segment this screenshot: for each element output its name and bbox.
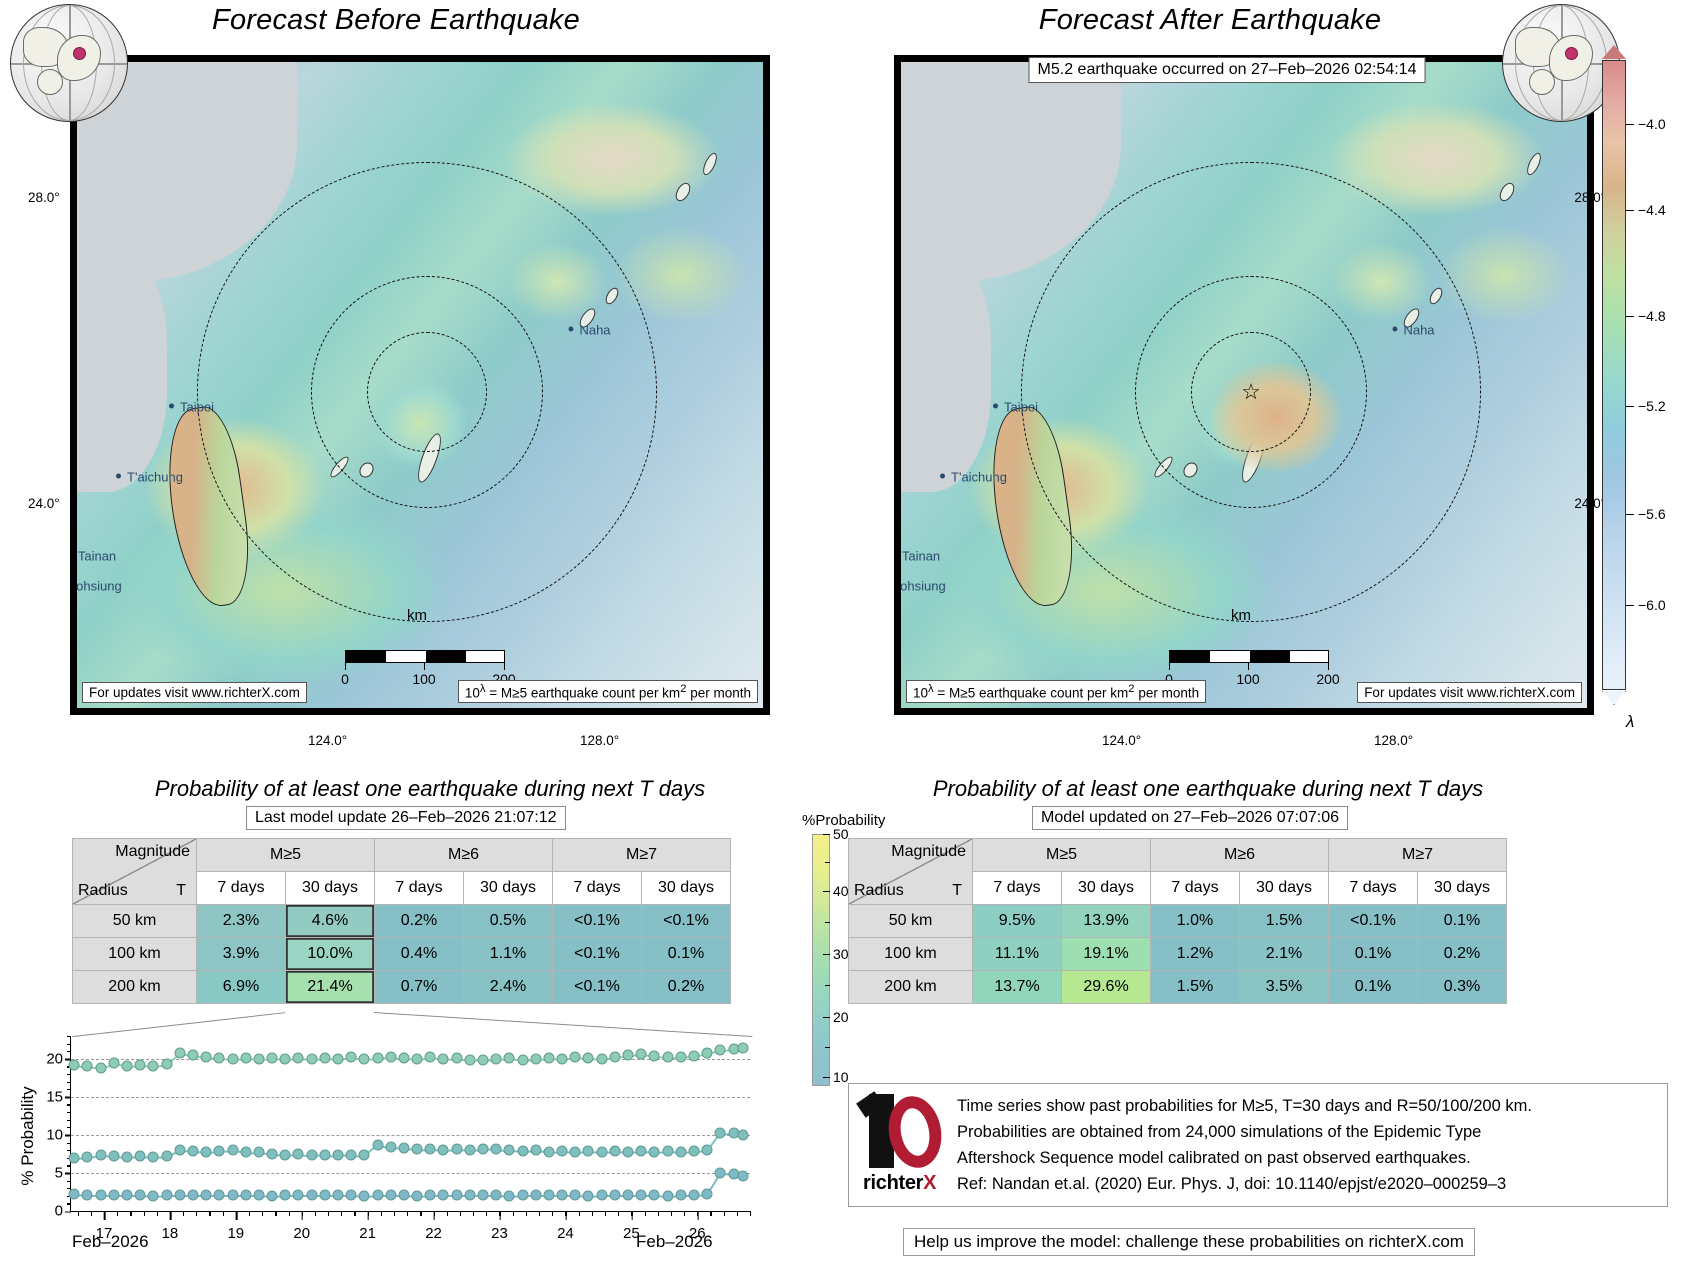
data-point[interactable]: [543, 1053, 554, 1064]
cell-m6-7d-200km[interactable]: 1.5%: [1151, 971, 1240, 1004]
x-minor-tick: [144, 1211, 145, 1216]
data-point[interactable]: [306, 1150, 317, 1161]
data-point[interactable]: [227, 1190, 238, 1201]
period-header-3: 30 days: [464, 872, 553, 905]
data-point[interactable]: [267, 1190, 278, 1201]
cell-m5-30d-100km[interactable]: 10.0%: [286, 938, 375, 971]
data-point[interactable]: [69, 1059, 80, 1070]
data-point[interactable]: [280, 1053, 291, 1064]
data-point[interactable]: [451, 1144, 462, 1155]
data-point[interactable]: [122, 1151, 133, 1162]
data-point[interactable]: [148, 1060, 159, 1071]
data-point[interactable]: [227, 1053, 238, 1064]
table-row: 200 km 6.9% 21.4% 0.7% 2.4% <0.1% 0.2%: [73, 971, 731, 1004]
data-point[interactable]: [464, 1190, 475, 1201]
y-minor-tick: [67, 1036, 71, 1037]
cell-m6-7d-50km[interactable]: 1.0%: [1151, 905, 1240, 938]
cell-m5-30d-200km[interactable]: 29.6%: [1062, 971, 1151, 1004]
data-point[interactable]: [570, 1052, 581, 1063]
x-minor-tick: [658, 1211, 659, 1216]
data-point[interactable]: [82, 1061, 93, 1072]
km-label-before: km: [407, 607, 427, 624]
data-point[interactable]: [201, 1146, 212, 1157]
map-footer-url-after[interactable]: For updates visit www.richterX.com: [1357, 682, 1582, 703]
data-point[interactable]: [372, 1139, 383, 1150]
data-point[interactable]: [240, 1190, 251, 1201]
data-point[interactable]: [688, 1050, 699, 1061]
data-point[interactable]: [187, 1050, 198, 1061]
x-minor-tick: [473, 1211, 474, 1216]
magnitude-header-m6: M≥6: [375, 839, 553, 872]
cell-m6-7d-50km[interactable]: 0.2%: [375, 905, 464, 938]
data-point[interactable]: [412, 1143, 423, 1154]
data-point[interactable]: [649, 1190, 660, 1201]
data-point[interactable]: [702, 1047, 713, 1058]
data-point[interactable]: [596, 1146, 607, 1157]
cell-m5-30d-100km[interactable]: 19.1%: [1062, 938, 1151, 971]
data-point[interactable]: [715, 1167, 726, 1178]
data-point[interactable]: [240, 1053, 251, 1064]
data-point[interactable]: [636, 1049, 647, 1060]
logo-wordmark: richterX: [863, 1172, 936, 1195]
data-point[interactable]: [306, 1190, 317, 1201]
data-point[interactable]: [609, 1051, 620, 1062]
lat-label-28-left: 28.0°: [28, 190, 60, 205]
period-header-3: 30 days: [1240, 872, 1329, 905]
data-point[interactable]: [319, 1149, 330, 1160]
table-row: 50 km 9.5% 13.9% 1.0% 1.5% <0.1% 0.1%: [849, 905, 1507, 938]
cell-m6-30d-200km[interactable]: 2.4%: [464, 971, 553, 1004]
data-point[interactable]: [412, 1190, 423, 1201]
cell-m6-30d-200km[interactable]: 3.5%: [1240, 971, 1329, 1004]
data-point[interactable]: [122, 1190, 133, 1201]
info-line-2: Probabilities are obtained from 24,000 s…: [957, 1119, 1532, 1145]
colorbar-tick-1: −4.4: [1626, 202, 1666, 218]
data-point[interactable]: [187, 1190, 198, 1201]
info-line-4: Ref: Nandan et.al. (2020) Eur. Phys. J, …: [957, 1171, 1532, 1197]
data-point[interactable]: [543, 1146, 554, 1157]
info-box-text: Time series show past probabilities for …: [957, 1093, 1532, 1197]
help-challenge-bar[interactable]: Help us improve the model: challenge the…: [903, 1228, 1475, 1256]
colorbar-label-lambda: λ: [1626, 712, 1634, 732]
lon-label-124-right: 124.0°: [1102, 733, 1141, 748]
x-minor-tick: [368, 1211, 369, 1216]
cell-m7-30d-200km[interactable]: 0.3%: [1418, 971, 1507, 1004]
data-point[interactable]: [738, 1171, 749, 1182]
row-header-50km: 50 km: [73, 905, 197, 938]
cell-m5-30d-200km[interactable]: 21.4%: [286, 971, 375, 1004]
cell-m7-30d-50km[interactable]: <0.1%: [642, 905, 731, 938]
data-point[interactable]: [451, 1190, 462, 1201]
data-point[interactable]: [478, 1144, 489, 1155]
data-point[interactable]: [438, 1053, 449, 1064]
row-header-200km: 200 km: [73, 971, 197, 1004]
data-point[interactable]: [609, 1145, 620, 1156]
data-point[interactable]: [214, 1190, 225, 1201]
data-point[interactable]: [372, 1053, 383, 1064]
city-label-kaohsiung: Kaohsiung: [894, 579, 946, 594]
cell-m5-7d-50km[interactable]: 9.5%: [973, 905, 1062, 938]
x-minor-tick: [645, 1211, 646, 1216]
data-point[interactable]: [623, 1190, 634, 1201]
info-line-3: Aftershock Sequence model calibrated on …: [957, 1145, 1532, 1171]
data-point[interactable]: [148, 1151, 159, 1162]
data-point[interactable]: [174, 1190, 185, 1201]
data-point[interactable]: [346, 1149, 357, 1160]
map-panel-after: Forecast After Earthquake M5.2 earthquak…: [832, 0, 1622, 760]
data-point[interactable]: [214, 1145, 225, 1156]
data-point[interactable]: [738, 1129, 749, 1140]
corner-label-t: T: [176, 882, 186, 900]
data-point[interactable]: [675, 1146, 686, 1157]
data-point[interactable]: [464, 1145, 475, 1156]
left-panel-title: Probability of at least one earthquake d…: [80, 776, 780, 802]
cell-m7-7d-100km[interactable]: 0.1%: [1329, 938, 1418, 971]
data-point[interactable]: [227, 1145, 238, 1156]
data-point[interactable]: [675, 1190, 686, 1201]
magnitude-header-m7: M≥7: [553, 839, 731, 872]
data-point[interactable]: [583, 1053, 594, 1064]
data-point[interactable]: [253, 1147, 264, 1158]
map-footer-url-before[interactable]: For updates visit www.richterX.com: [82, 682, 307, 703]
data-point[interactable]: [451, 1053, 462, 1064]
data-point[interactable]: [95, 1150, 106, 1161]
x-minor-tick: [434, 1211, 435, 1216]
data-point[interactable]: [148, 1190, 159, 1201]
data-point[interactable]: [95, 1190, 106, 1201]
x-minor-tick: [236, 1211, 237, 1216]
y-minor-tick: [67, 1044, 71, 1045]
x-minor-tick: [209, 1211, 210, 1216]
data-point[interactable]: [108, 1190, 119, 1201]
data-point[interactable]: [478, 1190, 489, 1201]
y-minor-tick: [67, 1074, 71, 1075]
data-point[interactable]: [385, 1190, 396, 1201]
data-point[interactable]: [293, 1190, 304, 1201]
table-header-row-magnitude: Magnitude Radius T M≥5 M≥6 M≥7: [73, 839, 731, 872]
y-minor-tick: [67, 1165, 71, 1166]
x-minor-tick: [460, 1211, 461, 1216]
data-point[interactable]: [332, 1053, 343, 1064]
x-minor-tick: [526, 1211, 527, 1216]
period-header-2: 7 days: [1151, 872, 1240, 905]
data-point[interactable]: [372, 1190, 383, 1201]
data-point[interactable]: [530, 1145, 541, 1156]
data-point[interactable]: [583, 1145, 594, 1156]
table-row: 100 km 3.9% 10.0% 0.4% 1.1% <0.1% 0.1%: [73, 938, 731, 971]
data-point[interactable]: [359, 1190, 370, 1201]
timeseries-chart: % Probability 05101520171819202122232425…: [0, 1026, 800, 1267]
color-key-tick-30: 30: [830, 946, 849, 962]
data-point[interactable]: [425, 1190, 436, 1201]
cell-m7-7d-200km[interactable]: <0.1%: [553, 971, 642, 1004]
table-row: 50 km 2.3% 4.6% 0.2% 0.5% <0.1% <0.1%: [73, 905, 731, 938]
data-point[interactable]: [135, 1190, 146, 1201]
lon-label-128-right: 128.0°: [1374, 733, 1413, 748]
data-point[interactable]: [108, 1058, 119, 1069]
data-point[interactable]: [478, 1054, 489, 1065]
cell-m7-30d-100km[interactable]: 0.1%: [642, 938, 731, 971]
data-point[interactable]: [715, 1127, 726, 1138]
y-minor-tick: [67, 1143, 71, 1144]
data-point[interactable]: [675, 1052, 686, 1063]
data-point[interactable]: [135, 1151, 146, 1162]
x-minor-tick: [275, 1211, 276, 1216]
data-point[interactable]: [425, 1144, 436, 1155]
cell-m7-30d-100km[interactable]: 0.2%: [1418, 938, 1507, 971]
city-label-taipei: Taipei: [180, 400, 214, 415]
cell-m7-30d-200km[interactable]: 0.2%: [642, 971, 731, 1004]
cell-m7-7d-200km[interactable]: 0.1%: [1329, 971, 1418, 1004]
data-point[interactable]: [280, 1149, 291, 1160]
right-panel-title: Probability of at least one earthquake d…: [858, 776, 1558, 802]
colorbar-tick-2: −4.8: [1626, 308, 1666, 324]
cell-m6-7d-100km[interactable]: 0.4%: [375, 938, 464, 971]
data-point[interactable]: [319, 1053, 330, 1064]
city-label-taipei: Taipei: [1004, 400, 1038, 415]
epicenter-star-icon: ☆: [1241, 381, 1261, 403]
probability-table-before[interactable]: Magnitude Radius T M≥5 M≥6 M≥7 7 days 30…: [72, 838, 731, 1004]
y-minor-tick: [67, 1120, 71, 1121]
data-point[interactable]: [543, 1190, 554, 1201]
data-point[interactable]: [557, 1145, 568, 1156]
scale-tick-100: 100: [1236, 671, 1259, 687]
data-point[interactable]: [517, 1190, 528, 1201]
timeseries-x-caption-left: Feb–2026: [72, 1232, 149, 1252]
data-point[interactable]: [715, 1044, 726, 1055]
data-point[interactable]: [583, 1190, 594, 1201]
data-point[interactable]: [161, 1190, 172, 1201]
colorbar-overflow-bottom: [1602, 691, 1626, 705]
cell-m5-7d-100km[interactable]: 3.9%: [197, 938, 286, 971]
city-label-taichung: T'aichung: [127, 470, 183, 485]
data-point[interactable]: [161, 1151, 172, 1162]
data-point[interactable]: [398, 1190, 409, 1201]
table-row: 200 km 13.7% 29.6% 1.5% 3.5% 0.1% 0.3%: [849, 971, 1507, 1004]
data-point[interactable]: [385, 1142, 396, 1153]
colorbar-tick-4: −5.6: [1626, 506, 1666, 522]
cell-m5-30d-50km[interactable]: 4.6%: [286, 905, 375, 938]
cell-m6-30d-50km[interactable]: 0.5%: [464, 905, 553, 938]
x-minor-tick: [447, 1211, 448, 1216]
lambda-colorbar: −4.0 −4.4 −4.8 −5.2 −5.6 −6.0 λ: [1602, 60, 1690, 740]
data-point[interactable]: [517, 1145, 528, 1156]
data-point[interactable]: [438, 1190, 449, 1201]
gridline: [71, 1135, 750, 1136]
data-point[interactable]: [438, 1145, 449, 1156]
period-header-2: 7 days: [375, 872, 464, 905]
row-header-100km: 100 km: [73, 938, 197, 971]
data-point[interactable]: [332, 1150, 343, 1161]
map-footer-formula-before: 10λ = M≥5 earthquake count per km2 per m…: [458, 680, 758, 704]
data-point[interactable]: [253, 1190, 264, 1201]
data-point[interactable]: [201, 1052, 212, 1063]
data-point[interactable]: [161, 1059, 172, 1070]
x-minor-tick: [592, 1211, 593, 1216]
data-point[interactable]: [69, 1189, 80, 1200]
data-point[interactable]: [398, 1142, 409, 1153]
data-point[interactable]: [412, 1053, 423, 1064]
data-point[interactable]: [346, 1052, 357, 1063]
data-point[interactable]: [662, 1190, 673, 1201]
timeseries-plot-area[interactable]: 0510152017181920212223242526: [70, 1036, 750, 1212]
data-point[interactable]: [267, 1148, 278, 1159]
data-point[interactable]: [293, 1148, 304, 1159]
x-minor-tick: [750, 1211, 751, 1216]
data-point[interactable]: [82, 1151, 93, 1162]
data-point[interactable]: [530, 1190, 541, 1201]
data-point[interactable]: [174, 1145, 185, 1156]
data-point[interactable]: [491, 1143, 502, 1154]
gridline: [71, 1173, 750, 1174]
period-header-5: 30 days: [642, 872, 731, 905]
x-minor-tick: [315, 1211, 316, 1216]
right-model-update-stamp: Model updated on 27–Feb–2026 07:07:06: [1032, 806, 1348, 830]
data-point[interactable]: [293, 1053, 304, 1064]
colorbar-tick-3: −5.2: [1626, 398, 1666, 414]
data-point[interactable]: [346, 1190, 357, 1201]
data-point[interactable]: [702, 1145, 713, 1156]
city-label-kaohsiung: Kaohsiung: [70, 579, 122, 594]
data-point[interactable]: [688, 1145, 699, 1156]
table-row: 100 km 11.1% 19.1% 1.2% 2.1% 0.1% 0.2%: [849, 938, 1507, 971]
y-minor-tick: [67, 1112, 71, 1113]
city-label-naha: Naha: [579, 323, 610, 338]
data-point[interactable]: [187, 1145, 198, 1156]
colorbar-tick-0: −4.0: [1626, 116, 1666, 132]
data-point[interactable]: [738, 1043, 749, 1054]
info-line-1: Time series show past probabilities for …: [957, 1093, 1532, 1119]
cell-m7-7d-50km[interactable]: <0.1%: [1329, 905, 1418, 938]
cell-m5-7d-50km[interactable]: 2.3%: [197, 905, 286, 938]
cell-m5-7d-200km[interactable]: 6.9%: [197, 971, 286, 1004]
corner-label-t: T: [952, 882, 962, 900]
data-point[interactable]: [398, 1053, 409, 1064]
data-point[interactable]: [425, 1052, 436, 1063]
data-point[interactable]: [570, 1190, 581, 1201]
data-point[interactable]: [491, 1053, 502, 1064]
map-footer-formula-after: 10λ = M≥5 earthquake count per km2 per m…: [906, 680, 1206, 704]
data-point[interactable]: [662, 1051, 673, 1062]
data-point[interactable]: [95, 1062, 106, 1073]
data-point[interactable]: [557, 1190, 568, 1201]
data-point[interactable]: [504, 1190, 515, 1201]
cell-m5-7d-200km[interactable]: 13.7%: [973, 971, 1062, 1004]
table-corner-cell: Magnitude Radius T: [73, 839, 197, 905]
data-point[interactable]: [267, 1053, 278, 1064]
cell-m6-30d-100km[interactable]: 1.1%: [464, 938, 553, 971]
data-point[interactable]: [649, 1050, 660, 1061]
data-point[interactable]: [662, 1145, 673, 1156]
map-panel-before: Forecast Before Earthquake Taipei T'aich…: [8, 0, 798, 760]
scale-bar-ticks: [1169, 663, 1329, 670]
table-corner-cell: Magnitude Radius T: [849, 839, 973, 905]
data-point[interactable]: [306, 1053, 317, 1064]
x-minor-tick: [78, 1211, 79, 1216]
x-minor-tick: [289, 1211, 290, 1216]
data-point[interactable]: [702, 1189, 713, 1200]
data-point[interactable]: [135, 1059, 146, 1070]
data-point[interactable]: [570, 1146, 581, 1157]
cell-m6-30d-100km[interactable]: 2.1%: [1240, 938, 1329, 971]
data-point[interactable]: [557, 1053, 568, 1064]
probability-table-after[interactable]: Magnitude Radius T M≥5 M≥6 M≥7 7 days 30…: [848, 838, 1507, 1004]
cell-m7-7d-100km[interactable]: <0.1%: [553, 938, 642, 971]
data-point[interactable]: [649, 1146, 660, 1157]
data-point[interactable]: [359, 1053, 370, 1064]
data-point[interactable]: [201, 1190, 212, 1201]
data-point[interactable]: [214, 1053, 225, 1064]
x-minor-tick: [618, 1211, 619, 1216]
data-point[interactable]: [464, 1055, 475, 1066]
data-point[interactable]: [596, 1053, 607, 1064]
data-point[interactable]: [596, 1190, 607, 1201]
cell-m7-30d-50km[interactable]: 0.1%: [1418, 905, 1507, 938]
data-point[interactable]: [319, 1190, 330, 1201]
data-point[interactable]: [623, 1146, 634, 1157]
x-minor-tick: [262, 1211, 263, 1216]
city-label-tainan: Tainan: [902, 549, 940, 564]
data-point[interactable]: [108, 1151, 119, 1162]
scale-bar-ticks: [345, 663, 505, 670]
cell-m6-7d-200km[interactable]: 0.7%: [375, 971, 464, 1004]
x-minor-tick: [631, 1211, 632, 1216]
data-point[interactable]: [280, 1190, 291, 1201]
data-point[interactable]: [504, 1145, 515, 1156]
data-point[interactable]: [623, 1050, 634, 1061]
cell-m5-30d-50km[interactable]: 13.9%: [1062, 905, 1151, 938]
data-point[interactable]: [359, 1150, 370, 1161]
data-point[interactable]: [688, 1190, 699, 1201]
data-point[interactable]: [69, 1152, 80, 1163]
map-title-after: Forecast After Earthquake: [860, 4, 1560, 37]
map-canvas-before[interactable]: Taipei T'aichung Tainan Kaohsiung Naha k…: [70, 55, 770, 715]
data-point[interactable]: [517, 1054, 528, 1065]
data-point[interactable]: [82, 1190, 93, 1201]
x-minor-tick: [117, 1211, 118, 1216]
map-canvas-after[interactable]: ☆ Taipei Naha T'aichung Tainan Kaohsiung…: [894, 55, 1594, 715]
x-minor-tick: [486, 1211, 487, 1216]
y-minor-tick: [67, 1082, 71, 1083]
data-point[interactable]: [504, 1053, 515, 1064]
period-header-0: 7 days: [197, 872, 286, 905]
colorbar-ticks: −4.0 −4.4 −4.8 −5.2 −5.6 −6.0: [1626, 60, 1686, 690]
y-tick-20: 20: [46, 1050, 71, 1067]
x-minor-tick: [513, 1211, 514, 1216]
x-minor-tick: [354, 1211, 355, 1216]
data-point[interactable]: [240, 1146, 251, 1157]
map-border-tick-right: [763, 62, 770, 708]
data-point[interactable]: [385, 1051, 396, 1062]
x-minor-tick: [196, 1211, 197, 1216]
data-point[interactable]: [332, 1190, 343, 1201]
cell-m5-7d-100km[interactable]: 11.1%: [973, 938, 1062, 971]
data-point[interactable]: [609, 1190, 620, 1201]
data-point[interactable]: [530, 1053, 541, 1064]
data-point[interactable]: [491, 1190, 502, 1201]
data-point[interactable]: [174, 1047, 185, 1058]
cell-m6-30d-50km[interactable]: 1.5%: [1240, 905, 1329, 938]
y-tick-0: 0: [55, 1203, 71, 1220]
cell-m7-7d-50km[interactable]: <0.1%: [553, 905, 642, 938]
corner-label-magnitude: Magnitude: [115, 843, 190, 861]
cell-m6-7d-100km[interactable]: 1.2%: [1151, 938, 1240, 971]
data-point[interactable]: [636, 1145, 647, 1156]
data-point[interactable]: [636, 1190, 647, 1201]
data-point[interactable]: [122, 1060, 133, 1071]
x-minor-tick: [223, 1211, 224, 1216]
data-point[interactable]: [253, 1053, 264, 1064]
